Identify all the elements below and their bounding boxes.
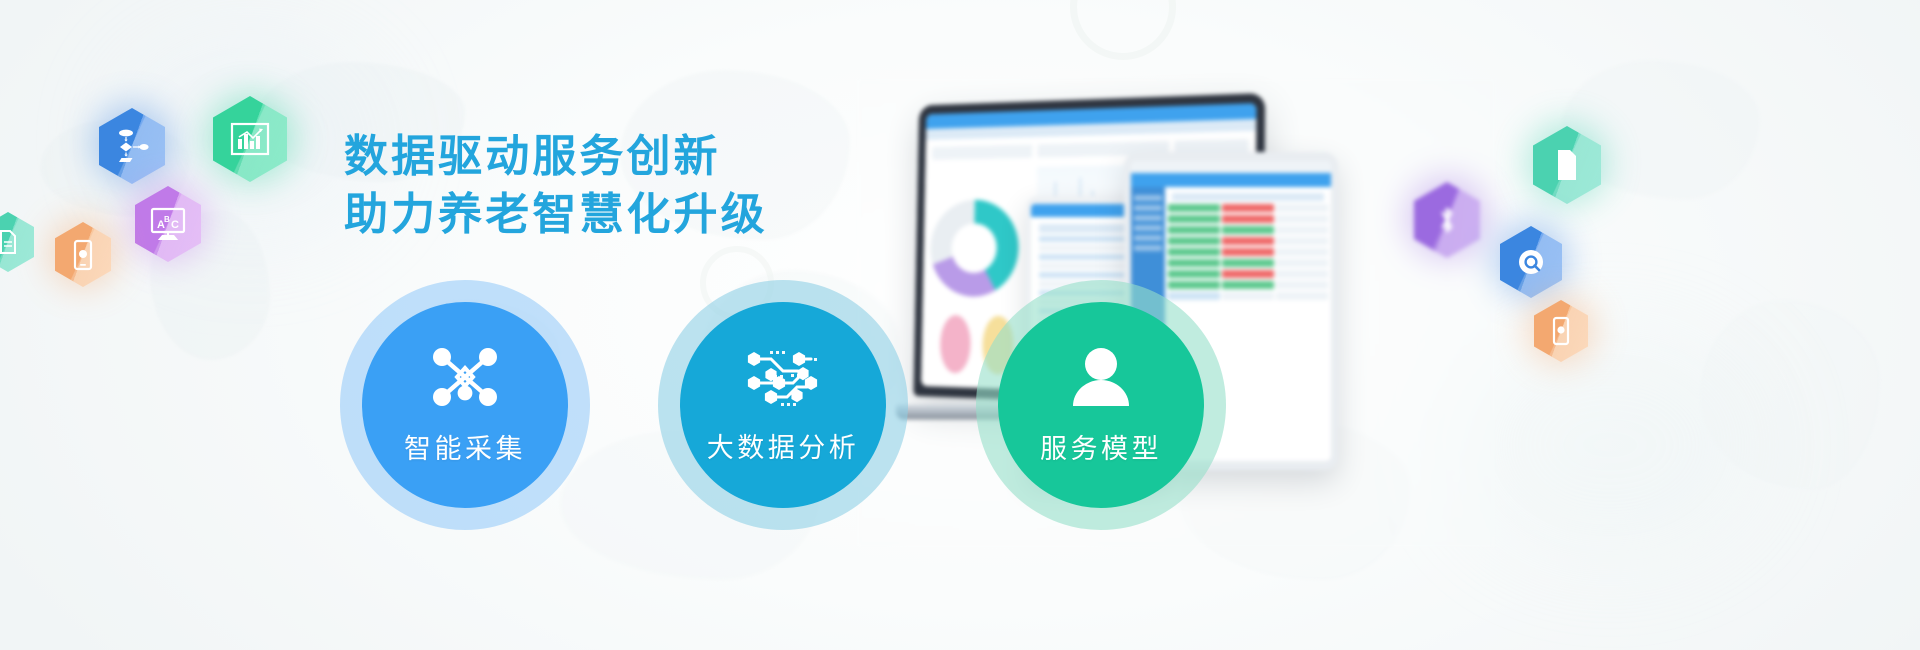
- flowchart-icon: [115, 128, 149, 164]
- feature-label: 服务模型: [1040, 427, 1162, 466]
- headline: 数据驱动服务创新 助力养老智慧化升级: [344, 128, 768, 244]
- user-person-icon: [1068, 344, 1134, 415]
- svg-text:C: C: [171, 219, 179, 231]
- headline-line-2: 助力养老智慧化升级: [344, 186, 768, 244]
- camera-lens-icon: [1516, 247, 1546, 277]
- mobile-device-icon: [71, 239, 95, 271]
- data-circuit-icon: [741, 345, 825, 414]
- monitor-abc-icon: A B C: [149, 207, 187, 241]
- document-icon: [0, 230, 18, 254]
- document-icon: [1554, 149, 1580, 181]
- feature-label: 智能采集: [404, 427, 526, 466]
- hex-badge-document-left: [0, 212, 34, 272]
- feature-circle-model[interactable]: 服务模型: [998, 302, 1204, 508]
- bar-chart-icon: [230, 121, 270, 157]
- feature-label: 大数据分析: [707, 426, 860, 465]
- feature-circle-row: 智能采集: [0, 288, 1920, 528]
- network-nodes-icon: [429, 344, 501, 415]
- svg-text:B: B: [164, 215, 170, 224]
- feature-circle-collect[interactable]: 智能采集: [362, 302, 568, 508]
- headline-line-1: 数据驱动服务创新: [344, 128, 768, 186]
- hero-banner: A B C: [0, 0, 1920, 650]
- feature-circle-analysis[interactable]: 大数据分析: [680, 302, 886, 508]
